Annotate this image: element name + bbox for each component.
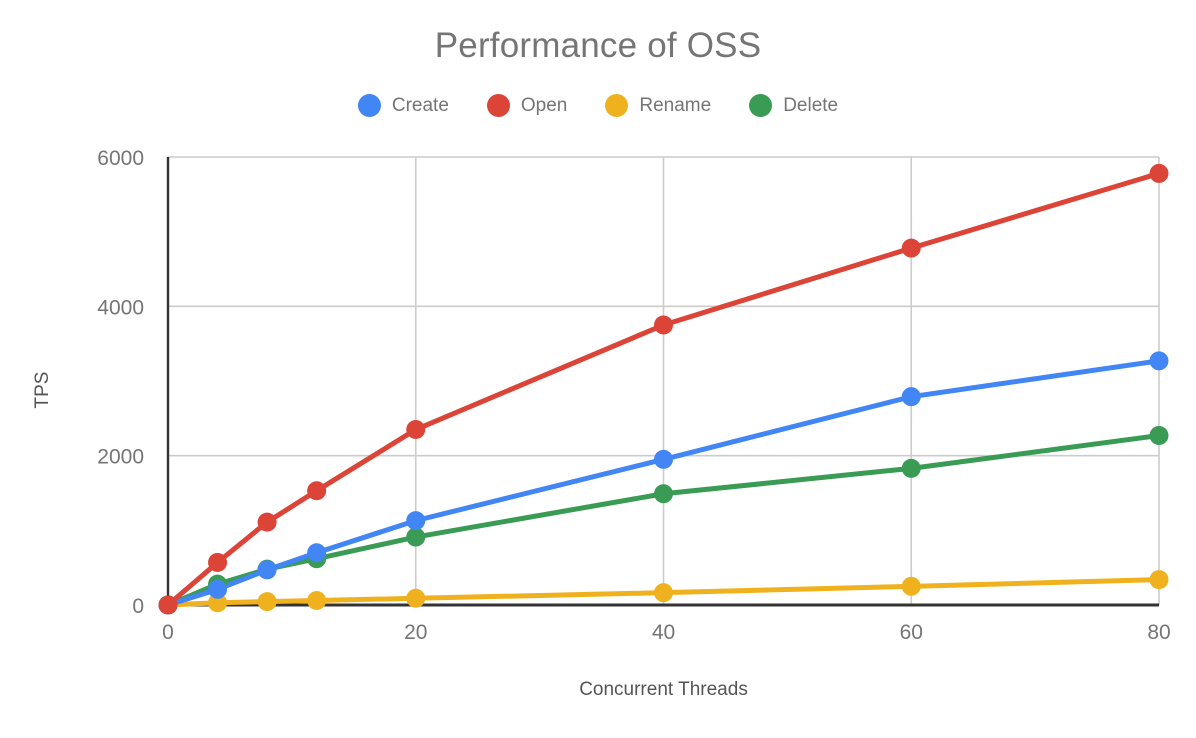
y-axis-tick-label: 4000 [97, 296, 144, 319]
y-axis-tick-label: 6000 [97, 147, 144, 170]
data-point-delete[interactable] [406, 528, 425, 547]
data-point-create[interactable] [307, 543, 326, 562]
data-point-rename[interactable] [902, 577, 921, 596]
data-point-delete[interactable] [654, 484, 673, 503]
data-point-open[interactable] [159, 596, 178, 615]
x-axis-tick-label: 80 [1147, 621, 1170, 644]
data-point-create[interactable] [1150, 351, 1169, 370]
data-point-rename[interactable] [1150, 570, 1169, 589]
data-point-open[interactable] [208, 553, 227, 572]
x-axis-tick-label: 20 [404, 621, 427, 644]
data-point-delete[interactable] [902, 459, 921, 478]
data-point-open[interactable] [1150, 164, 1169, 183]
data-point-rename[interactable] [406, 589, 425, 608]
y-axis-tick-label: 2000 [97, 446, 144, 469]
data-point-delete[interactable] [1150, 426, 1169, 445]
x-axis-tick-label: 40 [652, 621, 675, 644]
y-axis-tick-label: 0 [132, 595, 144, 618]
chart-container: Performance of OSS CreateOpenRenameDelet… [0, 0, 1196, 738]
data-point-open[interactable] [654, 316, 673, 335]
data-point-create[interactable] [208, 580, 227, 599]
data-point-rename[interactable] [258, 592, 277, 611]
data-point-open[interactable] [902, 239, 921, 258]
x-axis-tick-label: 60 [900, 621, 923, 644]
data-point-create[interactable] [902, 387, 921, 406]
x-axis-tick-label: 0 [162, 621, 174, 644]
x-axis-title: Concurrent Threads [579, 679, 748, 700]
data-point-rename[interactable] [654, 583, 673, 602]
data-point-open[interactable] [307, 481, 326, 500]
data-point-open[interactable] [406, 420, 425, 439]
plot-area: 0200040006000020406080Concurrent Threads… [0, 0, 1196, 738]
data-point-rename[interactable] [307, 591, 326, 610]
data-point-create[interactable] [406, 511, 425, 530]
data-point-create[interactable] [258, 560, 277, 579]
y-axis-title: TPS [32, 372, 53, 409]
data-point-create[interactable] [654, 450, 673, 469]
data-point-open[interactable] [258, 513, 277, 532]
